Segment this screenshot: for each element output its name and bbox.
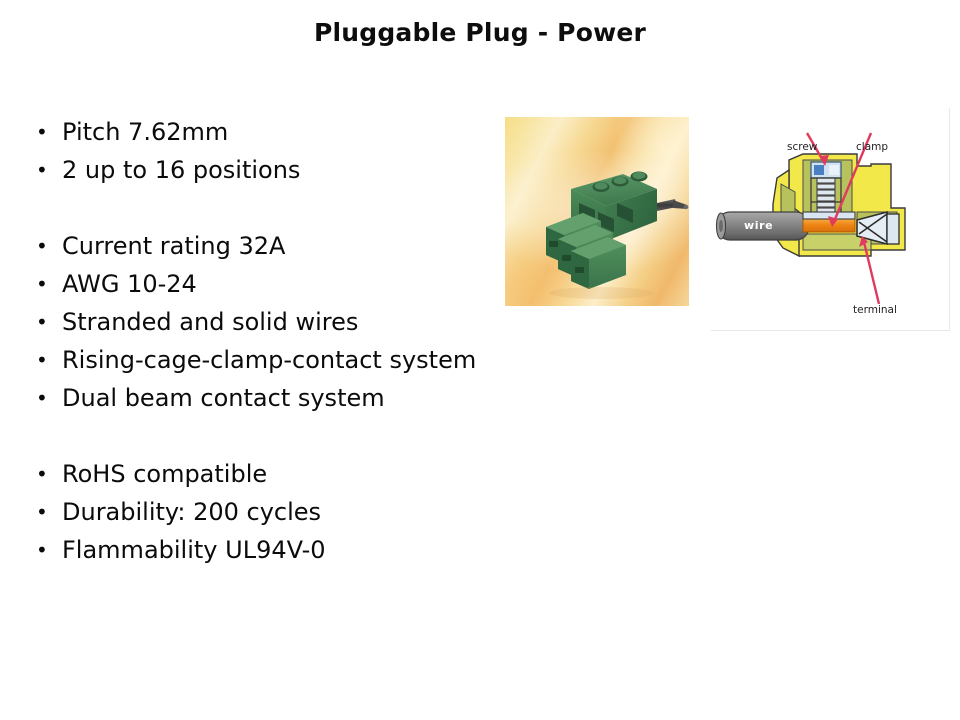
list-item: 2 up to 16 positions — [30, 151, 550, 189]
page-title: Pluggable Plug - Power — [0, 18, 960, 47]
diagram-label-clamp: clamp — [856, 141, 888, 153]
diagram-label-screw: screw — [787, 141, 817, 153]
conductor — [803, 218, 855, 232]
slide: Pluggable Plug - Power Pitch 7.62mm 2 up… — [0, 0, 960, 720]
product-photo — [505, 117, 689, 306]
list-item: RoHS compatible — [30, 455, 550, 493]
diagram-label-wire: wire — [744, 219, 773, 232]
list-item: Durability: 200 cycles — [30, 493, 550, 531]
list-spacer — [30, 189, 550, 227]
list-spacer — [30, 417, 550, 455]
list-item: Current rating 32A — [30, 227, 550, 265]
list-item: Rising-cage-clamp-contact system — [30, 341, 550, 379]
list-item: Dual beam contact system — [30, 379, 550, 417]
screw-part — [811, 162, 841, 178]
list-item: AWG 10-24 — [30, 265, 550, 303]
diagram-label-terminal: terminal — [853, 304, 897, 316]
list-item: Flammability UL94V-0 — [30, 531, 550, 569]
list-item: Stranded and solid wires — [30, 303, 550, 341]
bullet-list: Pitch 7.62mm 2 up to 16 positions Curren… — [30, 113, 550, 569]
terminal-cutaway-diagram: screw clamp terminal wire — [711, 108, 950, 331]
terminal-block — [887, 214, 899, 244]
connector-pin — [657, 199, 688, 211]
connector-illustration — [505, 117, 689, 306]
list-item: Pitch 7.62mm — [30, 113, 550, 151]
